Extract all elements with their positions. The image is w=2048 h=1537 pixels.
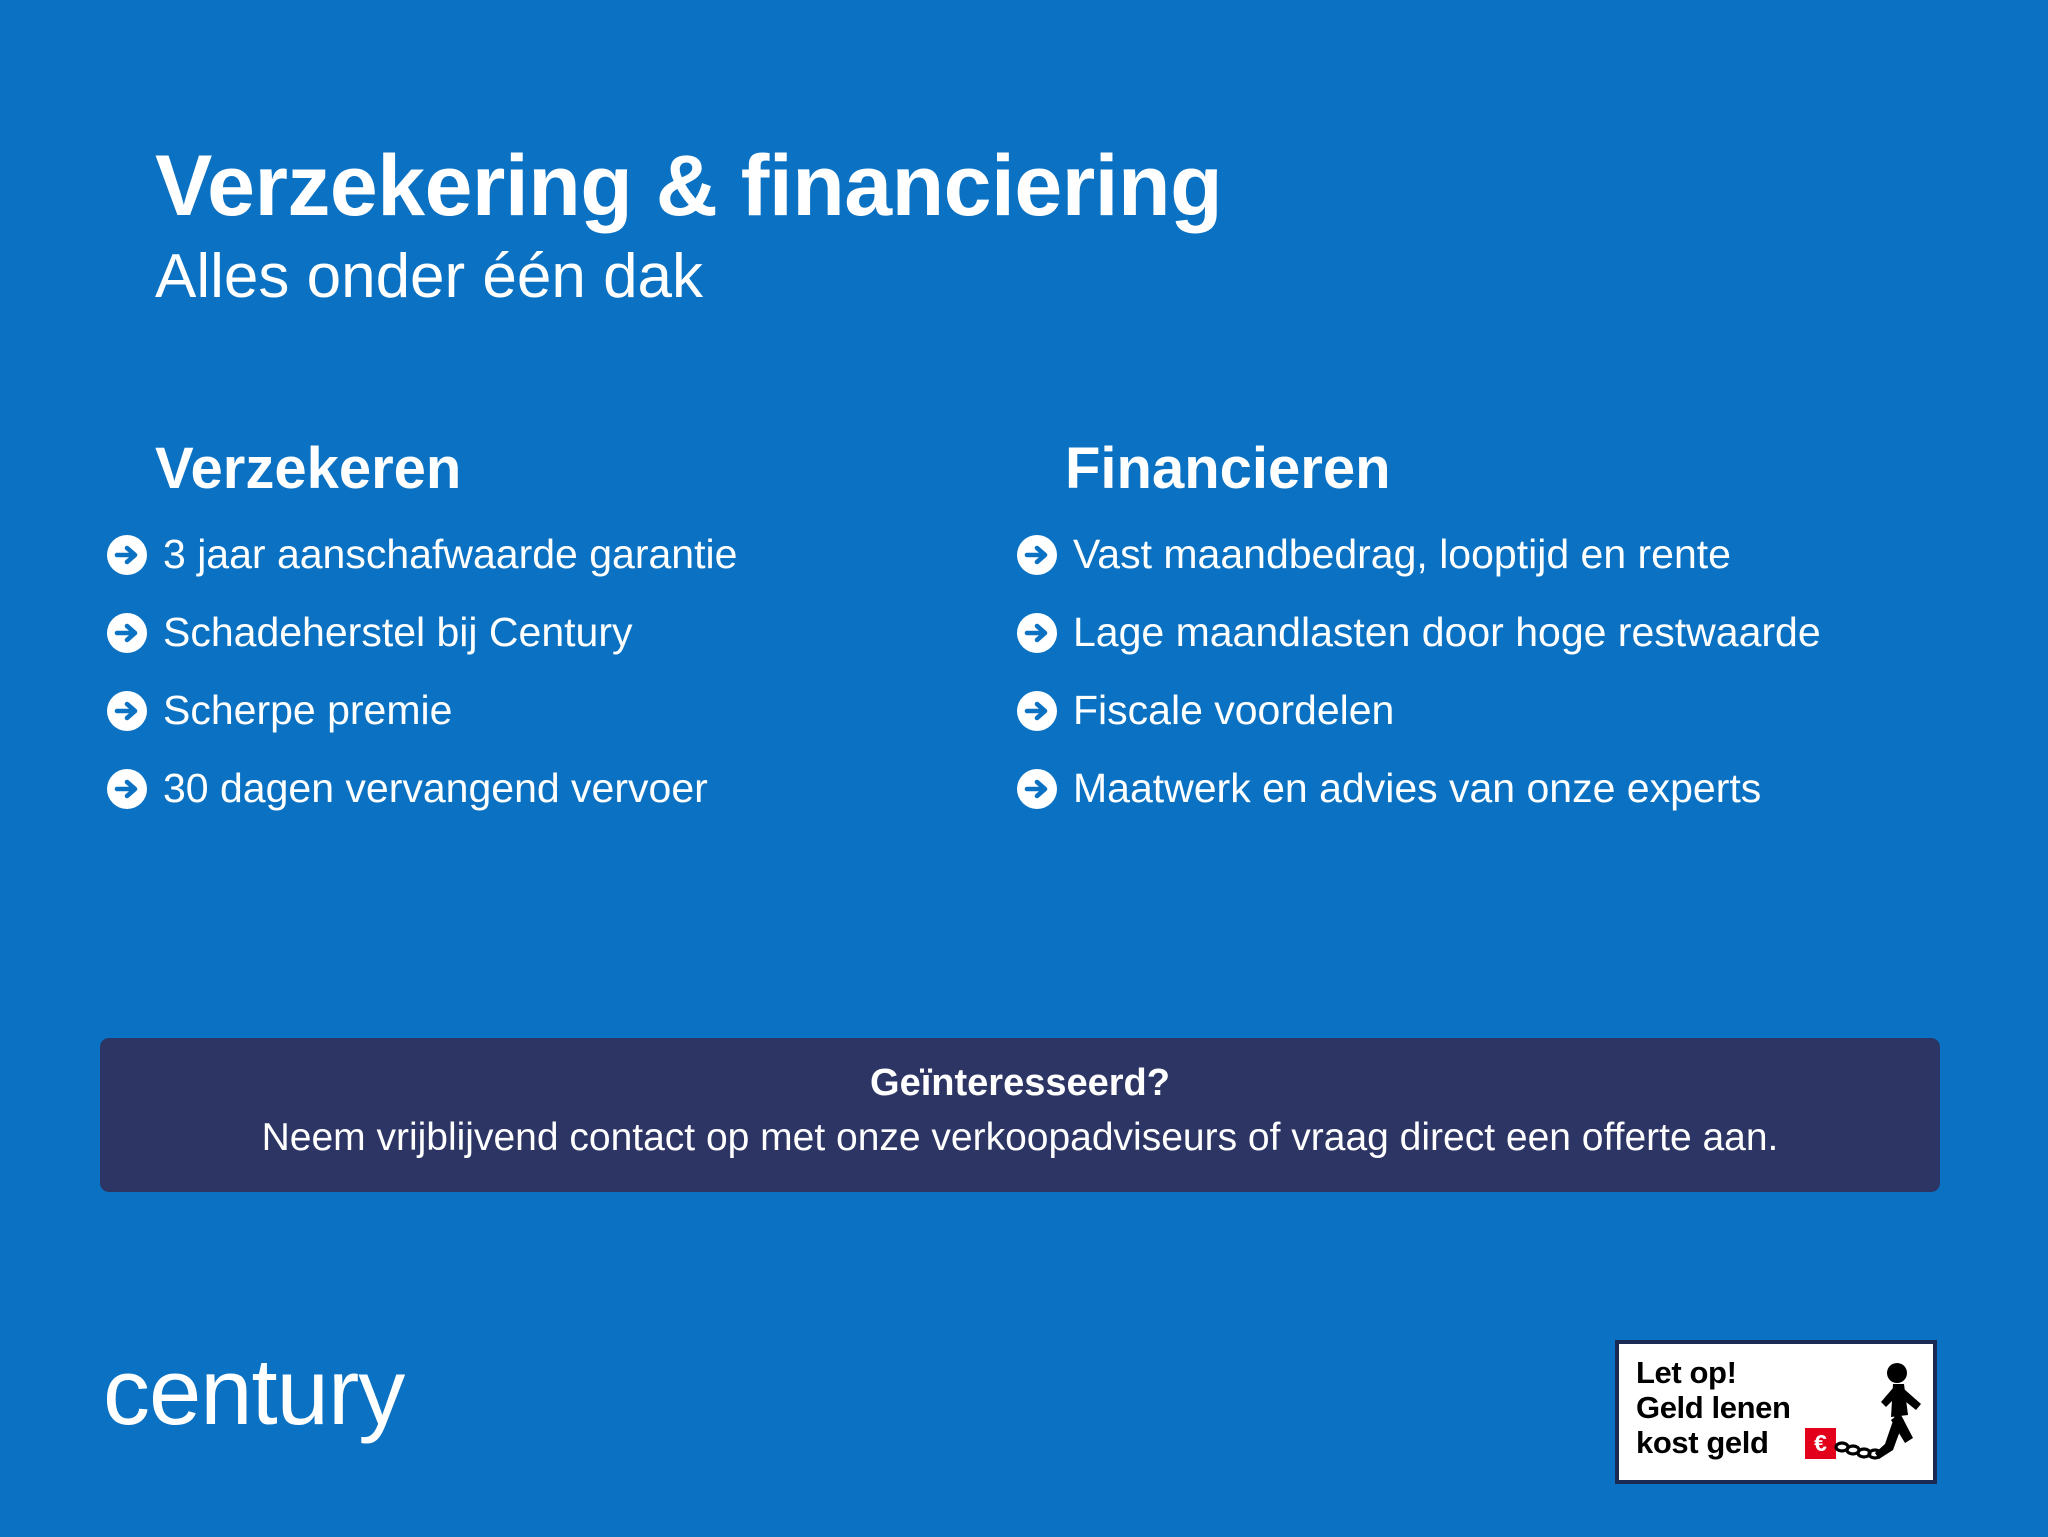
svg-text:€: € [1814, 1430, 1827, 1456]
debt-walking-figure-icon: € [1805, 1360, 1925, 1472]
page-title: Verzekering & financiering [155, 142, 1855, 231]
list-item-label: Vast maandbedrag, looptijd en rente [1073, 532, 1731, 578]
list-item-label: Scherpe premie [163, 688, 452, 734]
century-logo: century [103, 1345, 404, 1439]
column-title-verzekeren: Verzekeren [155, 440, 910, 498]
list-item: Lage maandlasten door hoge restwaarde [1017, 610, 2048, 656]
slide-canvas: Verzekering & financiering Alles onder é… [0, 0, 2048, 1537]
list-item: Fiscale voordelen [1017, 688, 2048, 734]
column-title-financieren: Financieren [1065, 440, 2048, 498]
page-subtitle: Alles onder één dak [155, 243, 1855, 311]
warning-line-1: Let op! [1636, 1355, 1737, 1390]
list-item: Maatwerk en advies van onze experts [1017, 766, 2048, 812]
bullet-list-verzekeren: 3 jaar aanschafwaarde garantie Schadeher… [155, 532, 910, 812]
arrow-circle-right-icon [107, 691, 147, 731]
arrow-circle-right-icon [1017, 613, 1057, 653]
list-item-label: Lage maandlasten door hoge restwaarde [1073, 610, 1821, 656]
warning-inner: Let op!Geld lenenkost geld € [1619, 1344, 1933, 1480]
list-item-label: 30 dagen vervangend vervoer [163, 766, 708, 812]
list-item-label: Maatwerk en advies van onze experts [1073, 766, 1761, 812]
list-item-label: Fiscale voordelen [1073, 688, 1394, 734]
list-item: 30 dagen vervangend vervoer [107, 766, 910, 812]
list-item: Schadeherstel bij Century [107, 610, 910, 656]
cta-title: Geïnteresseerd? [130, 1062, 1910, 1105]
cta-callout-box: Geïnteresseerd? Neem vrijblijvend contac… [100, 1038, 1940, 1192]
column-verzekeren: Verzekeren 3 jaar aanschafwaarde garanti… [0, 440, 910, 812]
list-item: Scherpe premie [107, 688, 910, 734]
arrow-circle-right-icon [1017, 769, 1057, 809]
warning-line-2: Geld lenen [1636, 1390, 1790, 1425]
bullet-list-financieren: Vast maandbedrag, looptijd en rente Lage… [1065, 532, 2048, 812]
list-item: 3 jaar aanschafwaarde garantie [107, 532, 910, 578]
column-financieren: Financieren Vast maandbedrag, looptijd e… [910, 440, 2048, 812]
warning-line-3: kost geld [1636, 1425, 1768, 1460]
list-item: Vast maandbedrag, looptijd en rente [1017, 532, 2048, 578]
feature-columns: Verzekeren 3 jaar aanschafwaarde garanti… [0, 440, 2048, 812]
afm-warning-badge: Let op!Geld lenenkost geld € [1615, 1340, 1937, 1484]
arrow-circle-right-icon [1017, 535, 1057, 575]
arrow-circle-right-icon [107, 613, 147, 653]
slide-header: Verzekering & financiering Alles onder é… [155, 142, 1855, 312]
arrow-circle-right-icon [107, 769, 147, 809]
cta-text: Neem vrijblijvend contact op met onze ve… [130, 1115, 1910, 1162]
arrow-circle-right-icon [107, 535, 147, 575]
arrow-circle-right-icon [1017, 691, 1057, 731]
warning-text-block: Let op!Geld lenenkost geld [1636, 1355, 1790, 1460]
list-item-label: Schadeherstel bij Century [163, 610, 632, 656]
list-item-label: 3 jaar aanschafwaarde garantie [163, 532, 737, 578]
